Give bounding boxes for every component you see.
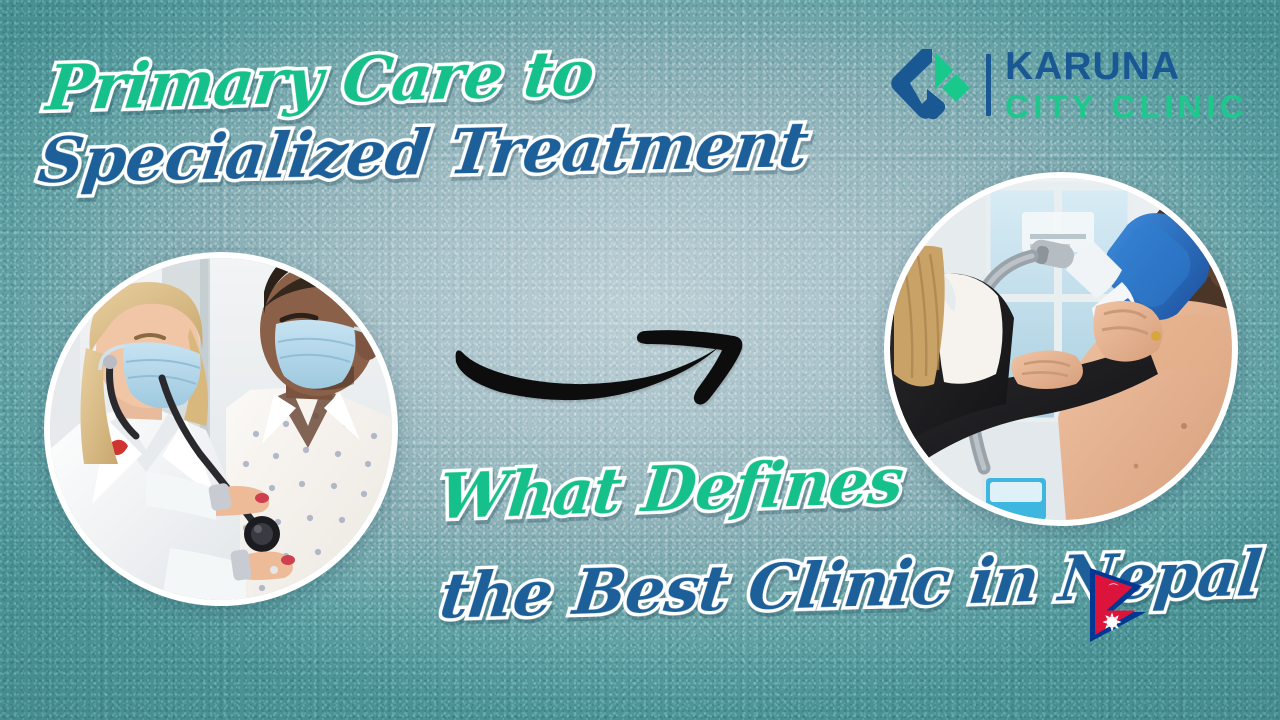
logo-name-primary: KARUNA <box>1005 47 1248 86</box>
shockwave-therapy-photo <box>884 172 1238 526</box>
logo-divider <box>986 54 991 116</box>
doctor-examining-patient-photo <box>44 252 398 606</box>
logo-name-secondary: CITY CLINIC <box>1005 90 1248 123</box>
logo-wordmark: KARUNA CITY CLINIC <box>1005 47 1248 123</box>
poster-canvas: Primary Care to Specialized Treatment KA… <box>0 0 1280 720</box>
nepal-flag-icon <box>1086 566 1150 644</box>
headline-line-2: Specialized Treatment <box>35 108 812 197</box>
headline-line-3: What Defines <box>435 444 907 533</box>
karuna-k-monogram-icon <box>886 46 972 124</box>
curved-arrow-icon <box>448 306 758 426</box>
karuna-city-clinic-logo[interactable]: KARUNA CITY CLINIC <box>886 46 1248 124</box>
headline-line-1: Primary Care to <box>43 36 598 124</box>
